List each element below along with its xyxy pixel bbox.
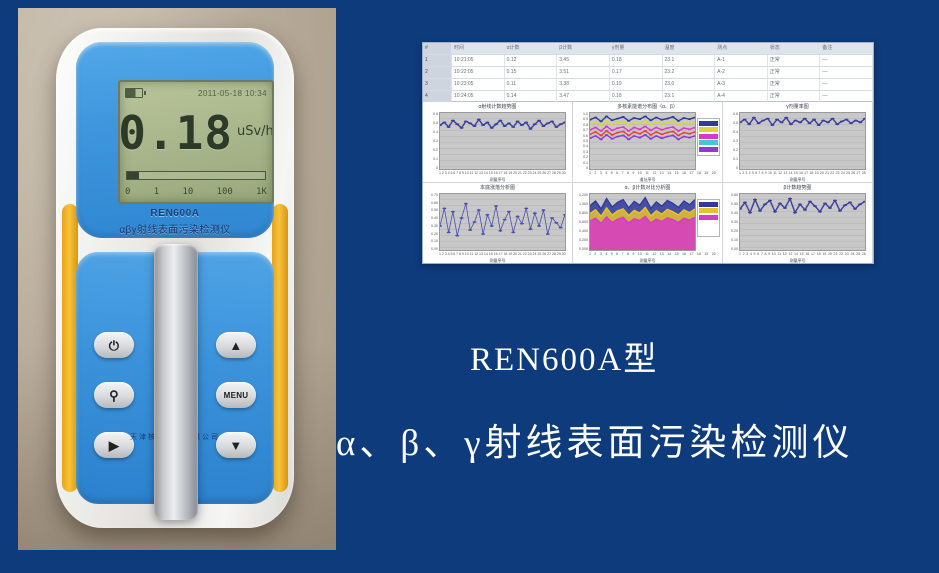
product-title: REN600A型 — [470, 332, 658, 380]
chart-data-point — [621, 131, 624, 133]
chart-data-point — [858, 203, 862, 205]
chart-data-point — [849, 122, 853, 124]
chart-data-point — [610, 134, 613, 136]
chart-data-point — [808, 201, 812, 203]
chart-data-point — [644, 115, 647, 117]
chart-data-point — [550, 217, 554, 219]
chart-data-point — [507, 211, 511, 213]
chart-data-point — [485, 214, 489, 216]
device-model-label: REN600A — [76, 208, 274, 219]
legend-item — [699, 147, 718, 152]
chart-data-point — [559, 123, 563, 125]
chart-data-point — [671, 121, 674, 123]
y-tick-label: 0.1 — [574, 161, 588, 165]
search-icon: ⚲ — [109, 389, 119, 402]
chart-data-point — [803, 118, 807, 120]
chart-data-point — [638, 118, 641, 120]
hand-strap — [154, 244, 198, 520]
chart-data-point — [649, 124, 652, 126]
chart-data-point — [605, 115, 608, 117]
y-tick-label: 0.00 — [424, 247, 438, 251]
chart-data-point — [633, 135, 636, 137]
chart-title: γ剂量率图 — [726, 104, 869, 111]
table-cell: 3.45 — [557, 55, 610, 66]
chart-data-point — [599, 121, 602, 123]
chart-data-point — [616, 132, 619, 134]
chart-data-point — [460, 217, 464, 219]
chart-data-point — [747, 123, 751, 125]
chart-x-label: 测量序号 — [423, 258, 572, 264]
chart-title: β计数趋势图 — [726, 185, 869, 192]
power-icon: ⏻ — [109, 339, 120, 352]
chart-data-point — [610, 119, 613, 121]
chart-data-point — [529, 128, 533, 130]
legend-item — [699, 215, 718, 220]
chart-data-point — [638, 133, 641, 135]
chart-data-point — [655, 131, 658, 133]
chart-data-point — [621, 116, 624, 118]
chart-data-point — [666, 127, 669, 129]
chart-data-point — [616, 136, 619, 138]
table-cell: 3.47 — [557, 91, 610, 102]
y-tick-label: 0.50 — [424, 208, 438, 212]
chart-data-point — [594, 121, 597, 123]
chart-data-point — [844, 119, 848, 121]
chart-data-point — [633, 121, 636, 123]
search-button[interactable]: ⚲ — [94, 382, 134, 408]
table-row: 110:21:050.123.450.1823.1A-1正常— — [423, 55, 873, 67]
table-cell: 正常 — [768, 79, 821, 90]
chart-data-point — [644, 134, 647, 136]
y-tick-label: 0.1 — [424, 157, 438, 161]
chart-data-point — [682, 136, 685, 138]
chart-data-point — [649, 138, 652, 140]
y-tick-label: 0.4 — [424, 130, 438, 134]
chart-data-point — [768, 200, 772, 202]
lcd-bargraph — [126, 171, 266, 180]
radiation-detector-device: 2011-05-18 10:34 0.18 uSv/h 01101001K RE… — [56, 28, 294, 528]
chart-panel: 本底涨落分析图0.700.600.500.400.300.200.100.001… — [423, 183, 573, 264]
chart-plot-area — [739, 193, 866, 251]
up-button[interactable]: ▲ — [216, 332, 256, 358]
lcd-scale-tick: 1 — [154, 187, 159, 197]
device-faceplate-top: 2011-05-18 10:34 0.18 uSv/h 01101001K RE… — [76, 42, 274, 238]
y-tick-label: 0.50 — [724, 202, 738, 206]
chart-data-point — [533, 212, 537, 214]
chart-data-point — [559, 227, 563, 229]
chart-data-point — [644, 130, 647, 132]
legend-item — [699, 127, 718, 132]
chart-title: 本底涨落分析图 — [426, 185, 569, 192]
software-screenshot: #时间α计数β计数γ剂量温度测点状态备注110:21:050.123.450.1… — [422, 42, 874, 264]
chart-data-point — [616, 118, 619, 120]
table-row-index: 4 — [423, 91, 452, 102]
chart-data-point — [821, 120, 825, 122]
chart-data-point — [610, 138, 613, 140]
y-tick-label: 0.6 — [424, 112, 438, 116]
chart-data-point — [494, 205, 498, 207]
table-cell: 正常 — [768, 55, 821, 66]
chart-data-point — [780, 121, 784, 123]
y-tick-label: 0.2 — [574, 155, 588, 159]
chart-data-point — [761, 120, 765, 122]
chart-y-axis: 0.60.50.40.30.20.10 — [424, 112, 438, 170]
chart-data-point — [798, 121, 802, 123]
chart-panel: α射线计数趋势图0.60.50.40.30.20.101234567891011… — [423, 102, 573, 183]
chart-data-point — [677, 120, 680, 122]
chart-data-point — [498, 230, 502, 232]
y-tick-label: 0 — [574, 166, 588, 170]
y-tick-label: 0.30 — [724, 220, 738, 224]
y-tick-label: 0.10 — [724, 238, 738, 242]
chart-data-point — [833, 200, 837, 202]
chart-data-point — [838, 210, 842, 212]
y-tick-label: 0.20 — [424, 232, 438, 236]
chart-data-point — [627, 138, 630, 140]
chart-data-point — [826, 121, 830, 123]
chart-data-point — [599, 130, 602, 132]
chart-panel: α、β计数对比分析图1.2001.0000.8000.6000.4000.200… — [573, 183, 723, 264]
table-cell: 0.18 — [610, 55, 663, 66]
chart-data-point — [638, 128, 641, 130]
chart-legend — [697, 118, 720, 156]
chart-data-point — [778, 202, 782, 204]
chart-data-point — [621, 126, 624, 128]
chart-data-point — [442, 208, 446, 210]
chart-panel: β计数趋势图0.600.500.400.300.200.100.00123456… — [723, 183, 873, 264]
table-cell: 0.12 — [505, 55, 558, 66]
chart-data-point — [773, 211, 777, 213]
chart-svg — [590, 194, 695, 250]
chart-data-point — [541, 125, 545, 127]
chart-data-point — [644, 126, 647, 128]
power-button[interactable]: ⏻ — [94, 332, 134, 358]
chart-y-axis: 0.600.500.400.300.200.100.00 — [724, 193, 738, 251]
chart-data-point — [655, 117, 658, 119]
chart-data-point — [677, 124, 680, 126]
table-cell: — — [820, 67, 873, 78]
chart-data-point — [677, 138, 680, 140]
y-tick-label: 0.5 — [724, 121, 738, 125]
lcd-bargraph-fill — [127, 172, 139, 179]
y-tick-label: 0.40 — [424, 216, 438, 220]
chart-data-point — [451, 120, 455, 122]
chart-data-point — [490, 225, 494, 227]
table-cell: — — [820, 55, 873, 66]
chart-data-point — [616, 127, 619, 129]
chart-data-point — [481, 233, 485, 235]
chart-data-point — [682, 122, 685, 124]
chart-data-point — [682, 132, 685, 134]
chart-plot-area — [739, 112, 866, 170]
chart-data-point — [848, 202, 852, 204]
chart-data-point — [616, 122, 619, 124]
chart-data-point — [520, 223, 524, 225]
chart-data-point — [594, 131, 597, 133]
chart-data-point — [655, 127, 658, 129]
chart-data-point — [516, 121, 520, 123]
chart-data-point — [748, 212, 752, 214]
table-cell: — — [820, 79, 873, 90]
chart-data-point — [503, 125, 507, 127]
chart-data-point — [807, 122, 811, 124]
chart-data-point — [621, 121, 624, 123]
table-cell: 10:22:05 — [452, 67, 505, 78]
chart-legend — [697, 199, 720, 237]
chart-svg — [740, 113, 865, 169]
chart-data-point — [812, 119, 816, 121]
y-tick-label: 0.40 — [724, 211, 738, 215]
y-tick-label: 0.30 — [424, 224, 438, 228]
chart-data-point — [655, 121, 658, 123]
table-cell: A-4 — [715, 91, 768, 102]
chart-panel: 多核素能谱分布图（α、β）1.00.90.80.70.60.50.40.30.2… — [573, 102, 723, 183]
menu-button[interactable]: MENU — [216, 382, 256, 408]
chart-data-point — [440, 225, 442, 227]
chart-data-point — [633, 127, 636, 129]
chart-data-point — [828, 207, 832, 209]
chart-data-point — [550, 121, 554, 123]
chart-data-point — [599, 135, 602, 137]
chart-data-point — [660, 119, 663, 121]
chart-data-point — [627, 130, 630, 132]
table-cell: 0.11 — [505, 79, 558, 90]
slide-background: 2011-05-18 10:34 0.18 uSv/h 01101001K RE… — [0, 0, 939, 573]
lcd-datetime: 2011-05-18 10:34 — [198, 89, 267, 98]
chart-y-axis: 1.00.90.80.70.60.50.40.30.20.10 — [574, 112, 588, 170]
chart-data-point — [451, 211, 455, 213]
table-column-header: 温度 — [663, 43, 716, 54]
table-column-header: β计数 — [557, 43, 610, 54]
lcd-scale-tick: 10 — [182, 187, 193, 197]
chart-data-point — [605, 130, 608, 132]
chart-data-point — [770, 124, 774, 126]
chart-data-point — [671, 131, 674, 133]
chart-data-point — [477, 119, 481, 121]
table-cell: 10:21:05 — [452, 55, 505, 66]
chart-plot-area — [439, 112, 566, 170]
chart-data-point — [666, 118, 669, 120]
chart-data-point — [541, 209, 545, 211]
chart-data-point — [858, 121, 862, 123]
table-column-header: 备注 — [820, 43, 873, 54]
chart-svg — [440, 113, 565, 169]
table-column-header: 时间 — [452, 43, 505, 54]
chart-y-axis: 0.60.50.40.30.20.10 — [724, 112, 738, 170]
y-tick-label: 1.200 — [574, 193, 588, 197]
table-cell: A-2 — [715, 67, 768, 78]
chart-data-point — [753, 199, 757, 201]
lcd-reading: 0.18 uSv/h — [120, 102, 272, 164]
chart-data-point — [455, 123, 459, 125]
table-cell: 10:23:05 — [452, 79, 505, 90]
chart-data-point — [783, 207, 787, 209]
y-tick-label: 0.7 — [574, 128, 588, 132]
chart-data-point — [460, 127, 464, 129]
table-cell: 0.14 — [505, 91, 558, 102]
chart-data-point — [789, 123, 793, 125]
grip-right — [272, 204, 288, 492]
chart-data-point — [649, 129, 652, 131]
chart-x-label: 测量序号 — [723, 258, 872, 264]
table-column-header: 状态 — [768, 43, 821, 54]
chart-data-point — [660, 129, 663, 131]
chart-data-point — [817, 124, 821, 126]
chart-data-point — [756, 122, 760, 124]
y-tick-label: 0.2 — [424, 148, 438, 152]
chart-panel: γ剂量率图0.60.50.40.30.20.101234567891011121… — [723, 102, 873, 183]
chart-data-point — [472, 221, 476, 223]
y-tick-label: 0.3 — [724, 139, 738, 143]
y-tick-label: 0.10 — [424, 239, 438, 243]
legend-item — [699, 134, 718, 139]
lcd-unit: uSv/h — [237, 124, 274, 143]
y-tick-label: 0.2 — [724, 148, 738, 152]
y-tick-label: 0.800 — [574, 211, 588, 215]
chart-data-point — [529, 228, 533, 230]
chart-data-point — [677, 135, 680, 137]
chart-data-point — [843, 204, 847, 206]
chart-data-point — [627, 135, 630, 137]
table-cell: 正常 — [768, 67, 821, 78]
chart-data-point — [743, 119, 747, 121]
y-tick-label: 0.000 — [574, 247, 588, 251]
table-cell: 0.17 — [610, 67, 663, 78]
chart-data-point — [853, 208, 857, 210]
table-cell: 23.1 — [663, 55, 716, 66]
chart-data-point — [763, 203, 767, 205]
chart-data-point — [447, 232, 451, 234]
table-cell: 23.0 — [663, 79, 716, 90]
y-tick-label: 0.20 — [724, 229, 738, 233]
chart-data-point — [688, 128, 691, 130]
chart-data-point — [554, 126, 558, 128]
chart-data-point — [627, 124, 630, 126]
chart-title: 多核素能谱分布图（α、β） — [576, 104, 719, 111]
chart-data-point — [594, 127, 597, 129]
y-tick-label: 0.70 — [424, 193, 438, 197]
chart-data-point — [793, 212, 797, 214]
table-row-index: 2 — [423, 67, 452, 78]
table-row-index: 3 — [423, 79, 452, 90]
chart-title: α射线计数趋势图 — [426, 104, 569, 111]
chart-data-point — [740, 208, 742, 210]
y-tick-label: 0 — [724, 166, 738, 170]
y-tick-label: 1.0 — [574, 112, 588, 116]
chart-svg — [590, 113, 695, 169]
table-column-header: γ剂量 — [610, 43, 663, 54]
chart-data-point — [610, 129, 613, 131]
chart-data-point — [511, 126, 515, 128]
y-tick-label: 0.4 — [724, 130, 738, 134]
table-cell: — — [820, 91, 873, 102]
chart-data-point — [472, 125, 476, 127]
product-subtitle: α、β、γ射线表面污染检测仪 — [336, 412, 854, 466]
chart-data-point — [831, 118, 835, 120]
chart-data-point — [627, 120, 630, 122]
chart-svg — [440, 194, 565, 250]
legend-item — [699, 208, 718, 213]
chart-data-point — [511, 232, 515, 234]
chart-data-point — [610, 124, 613, 126]
chart-data-point — [594, 135, 597, 137]
chart-data-point — [682, 117, 685, 119]
y-tick-label: 0.6 — [724, 112, 738, 116]
chart-data-point — [688, 123, 691, 125]
chart-data-point — [671, 126, 674, 128]
y-tick-label: 0.9 — [574, 117, 588, 121]
chart-data-point — [546, 233, 550, 235]
chart-data-point — [840, 121, 844, 123]
lcd-scale-tick: 100 — [217, 187, 233, 197]
chart-data-point — [644, 120, 647, 122]
chart-plot-area — [589, 112, 696, 170]
chart-plot-area — [439, 193, 566, 251]
chart-data-point — [666, 136, 669, 138]
lcd-screen: 2011-05-18 10:34 0.18 uSv/h 01101001K — [118, 80, 274, 204]
y-tick-label: 0.5 — [424, 121, 438, 125]
legend-item — [699, 202, 718, 207]
table-cell: 3.51 — [557, 67, 610, 78]
y-tick-label: 0.3 — [574, 150, 588, 154]
lcd-scale-tick: 1K — [256, 187, 267, 197]
table-cell: 0.18 — [610, 91, 663, 102]
y-tick-label: 1.000 — [574, 202, 588, 206]
chart-data-point — [638, 123, 641, 125]
chart-data-point — [794, 120, 798, 122]
battery-icon — [125, 88, 143, 98]
y-tick-label: 0.60 — [724, 193, 738, 197]
chart-data-point — [490, 127, 494, 129]
table-row: 310:23:050.113.380.1923.0A-3正常— — [423, 79, 873, 91]
chart-data-point — [682, 127, 685, 129]
chart-data-point — [638, 137, 641, 139]
chart-data-point — [481, 124, 485, 126]
chart-data-point — [594, 117, 597, 119]
chart-data-point — [546, 122, 550, 124]
chart-data-point — [823, 202, 827, 204]
chart-data-point — [516, 216, 520, 218]
chart-data-point — [666, 132, 669, 134]
chart-data-point — [743, 202, 747, 204]
chart-plot-area — [589, 193, 696, 251]
table-cell: 0.19 — [610, 79, 663, 90]
y-tick-label: 0 — [424, 166, 438, 170]
y-tick-label: 0.3 — [424, 139, 438, 143]
chart-data-point — [818, 211, 822, 213]
chart-data-point — [633, 131, 636, 133]
chart-data-point — [633, 117, 636, 119]
y-tick-label: 0.400 — [574, 229, 588, 233]
chart-data-point — [798, 203, 802, 205]
chart-data-point — [655, 135, 658, 137]
y-tick-label: 0.00 — [724, 247, 738, 251]
up-icon: ▲ — [229, 339, 242, 352]
chart-data-point — [537, 225, 541, 227]
chart-data-point — [660, 133, 663, 135]
table-row: 210:22:050.153.510.1723.2A-2正常— — [423, 67, 873, 79]
chart-line-series — [440, 204, 565, 236]
chart-data-point — [498, 120, 502, 122]
y-tick-label: 0.600 — [574, 220, 588, 224]
table-cell: 23.1 — [663, 91, 716, 102]
table-cell: 23.2 — [663, 67, 716, 78]
chart-data-point — [533, 123, 537, 125]
chart-data-point — [660, 123, 663, 125]
chart-data-point — [442, 121, 446, 123]
chart-data-point — [447, 126, 451, 128]
chart-data-point — [464, 203, 468, 205]
